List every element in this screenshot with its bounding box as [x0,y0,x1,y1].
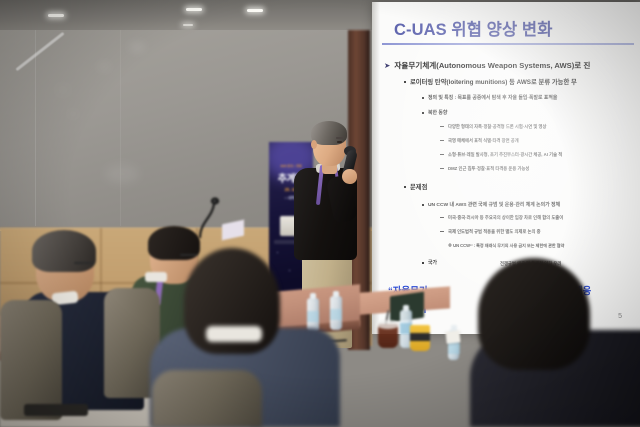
bullet-text: 국영 매체에서 표적 식별·타격 장면 공개 [448,138,519,143]
bullet-marker-dash-icon [440,217,444,218]
slide-bullet-level4: 국영 매체에서 표적 식별·타격 장면 공개 [440,138,519,144]
attendee-shirt-collar [145,272,167,282]
ceiling-light [48,14,64,17]
banner-top-text: 2025 한국○○학회 [274,164,308,168]
presenter-hand [342,169,357,184]
eyeglasses [74,262,94,264]
bullet-text: 국제 인도법적 규범 적용을 위한 별도 의제로 논의 중 [448,229,541,234]
bullet-text: 문제점 [410,184,427,191]
chair [0,300,62,420]
bullet-marker-square-icon [404,81,406,83]
napkin [445,330,460,343]
slide-bullet-level3: UN CCW 내 AWS 관련 국제 규범 및 운용·관리 체계 논의가 정체 [422,201,560,208]
slide-bullet-level4: 소형·튜브·레일 발사형, 초기 추진부스터·광시간 체공, AI 기술 적 [440,152,562,158]
slide-title: C-UAS 위협 양상 변화 [394,16,552,40]
bullet-marker-square-icon [422,262,424,264]
bullet-text: UN CCW 내 AWS 관련 국제 규범 및 운용·관리 체계 논의가 정체 [428,203,560,208]
bullet-marker-dash-icon [440,231,444,232]
bullet-text: 로이터링 탄약(loitering munitions) 등 AWS로 분류 가… [410,79,577,86]
bullet-text: 미국·중국·러시아 등 주요국의 상이한 입장 차로 인해 합의 도출이 [448,215,563,220]
slide-bullet-level4: 국제 인도법적 규범 적용을 위한 별도 의제로 논의 중 [440,229,541,235]
slide-bullet-level4: 미국·중국·러시아 등 주요국의 상이한 입장 차로 인해 합의 도출이 [440,215,563,221]
bullet-text: 자율무기체계(Autonomous Weapon Systems, AWS)로 … [394,61,590,70]
chair-base [24,404,88,416]
bullet-marker-dash-icon [440,154,444,155]
presenter-ear [311,140,317,149]
wall-sheen [98,64,110,69]
bullet-marker-square-icon [422,112,424,114]
footnote-text: UN CCW¹⁾ : 특정 재래식 무기의 사용 금지 또는 제한에 관한 협약 [453,243,564,248]
slide-bullet-level3: 국가 [422,259,437,266]
slide-bullet-level2: 로이터링 탄약(loitering munitions) 등 AWS로 분류 가… [404,77,577,86]
conference-room-scene: C-UAS 위협 양상 변화 ➤자율무기체계(Autonomous Weapon… [0,0,640,427]
slide-bullet-level3: 정의 및 특징 : 목표를 공중에서 탐색 후 자율 돌입·폭발로 표적을 [422,94,557,101]
ceiling-light [247,9,263,12]
wall-sheen [68,112,78,116]
bullet-text: 소형·튜브·레일 발사형, 초기 추진부스터·광시간 체공, AI 기술 적 [448,152,562,157]
screen-edge-shadow [372,2,380,334]
bullet-text: 북한 동향 [428,111,447,116]
wall-sheen [58,88,68,92]
slide-bullet-level1: ➤자율무기체계(Autonomous Weapon Systems, AWS)로… [384,60,590,71]
presenter-eyebrow [336,137,343,139]
slide-bullet-level3: 북한 동향 [422,109,447,116]
ceiling-light [183,24,193,26]
eyeglasses [180,254,198,256]
water-bottle [307,298,319,332]
slide-title-underline [382,43,634,45]
slide-bullet-level4: 다양한 형태의 자폭·정찰·공격형 드론 시험·시연 및 영상 [440,124,546,130]
attendee-head [478,258,590,370]
wall-sheen [105,165,139,183]
footnote-marker-icon: ※ [448,243,452,248]
water-bottle [330,296,342,330]
bullet-text: 다양한 형태의 자폭·정찰·공격형 드론 시험·시연 및 영상 [448,124,546,129]
bullet-marker-dash-icon [440,168,444,169]
bullet-marker-dash-icon [440,126,444,127]
bullet-marker-square-icon [422,97,424,99]
slide-bullet-level2: 문제점 [404,182,427,191]
bullet-text: 정의 및 특징 : 목표를 공중에서 탐색 후 자율 돌입·폭발로 표적을 [428,96,557,101]
slide-page-number: 5 [618,313,622,320]
wall-sheen [130,44,144,50]
bullet-marker-square-icon [404,186,406,188]
presenter-eye [337,141,342,143]
ceiling-light [186,8,202,11]
attendee-hair [32,230,96,272]
bullet-marker-arrow-icon: ➤ [384,61,390,70]
bullet-text: 국가 [428,261,437,266]
attendee-shirt-collar [206,326,262,342]
cup-lid [376,320,400,329]
chair [152,370,262,427]
slide-bullet-level4: DMZ 인근 침투·정찰·표적 타격용 운용 가능성 [440,166,529,172]
bullet-text: DMZ 인근 침투·정찰·표적 타격용 운용 가능성 [448,166,529,171]
slide-footnote: ※ UN CCW¹⁾ : 특정 재래식 무기의 사용 금지 또는 제한에 관한 … [448,243,564,249]
bullet-marker-square-icon [422,204,424,206]
cup-sleeve [410,333,430,341]
bullet-marker-dash-icon [440,140,444,141]
